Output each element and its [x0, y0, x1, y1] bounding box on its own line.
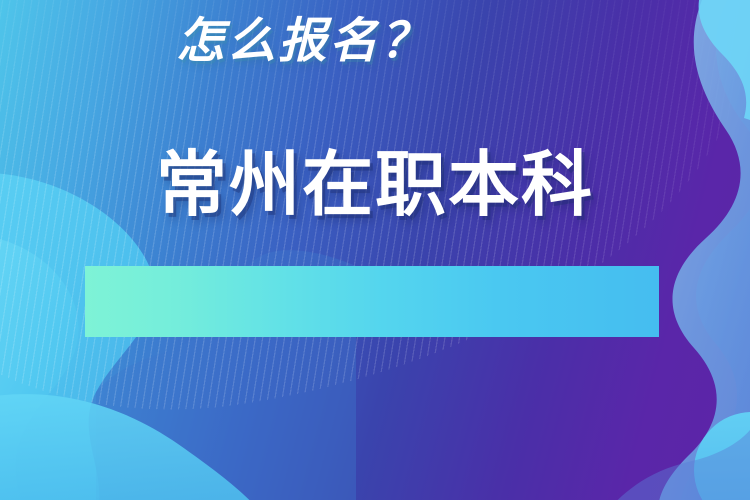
page-title: 常州在职本科: [156, 150, 594, 221]
right-wave-ribbons: [0, 0, 750, 500]
subtitle-text: 怎么报名？: [0, 0, 574, 71]
promo-banner: 常州在职本科 怎么报名？: [0, 0, 750, 500]
subtitle-banner-bar: [85, 266, 659, 337]
headline-container: 常州在职本科: [0, 150, 750, 221]
